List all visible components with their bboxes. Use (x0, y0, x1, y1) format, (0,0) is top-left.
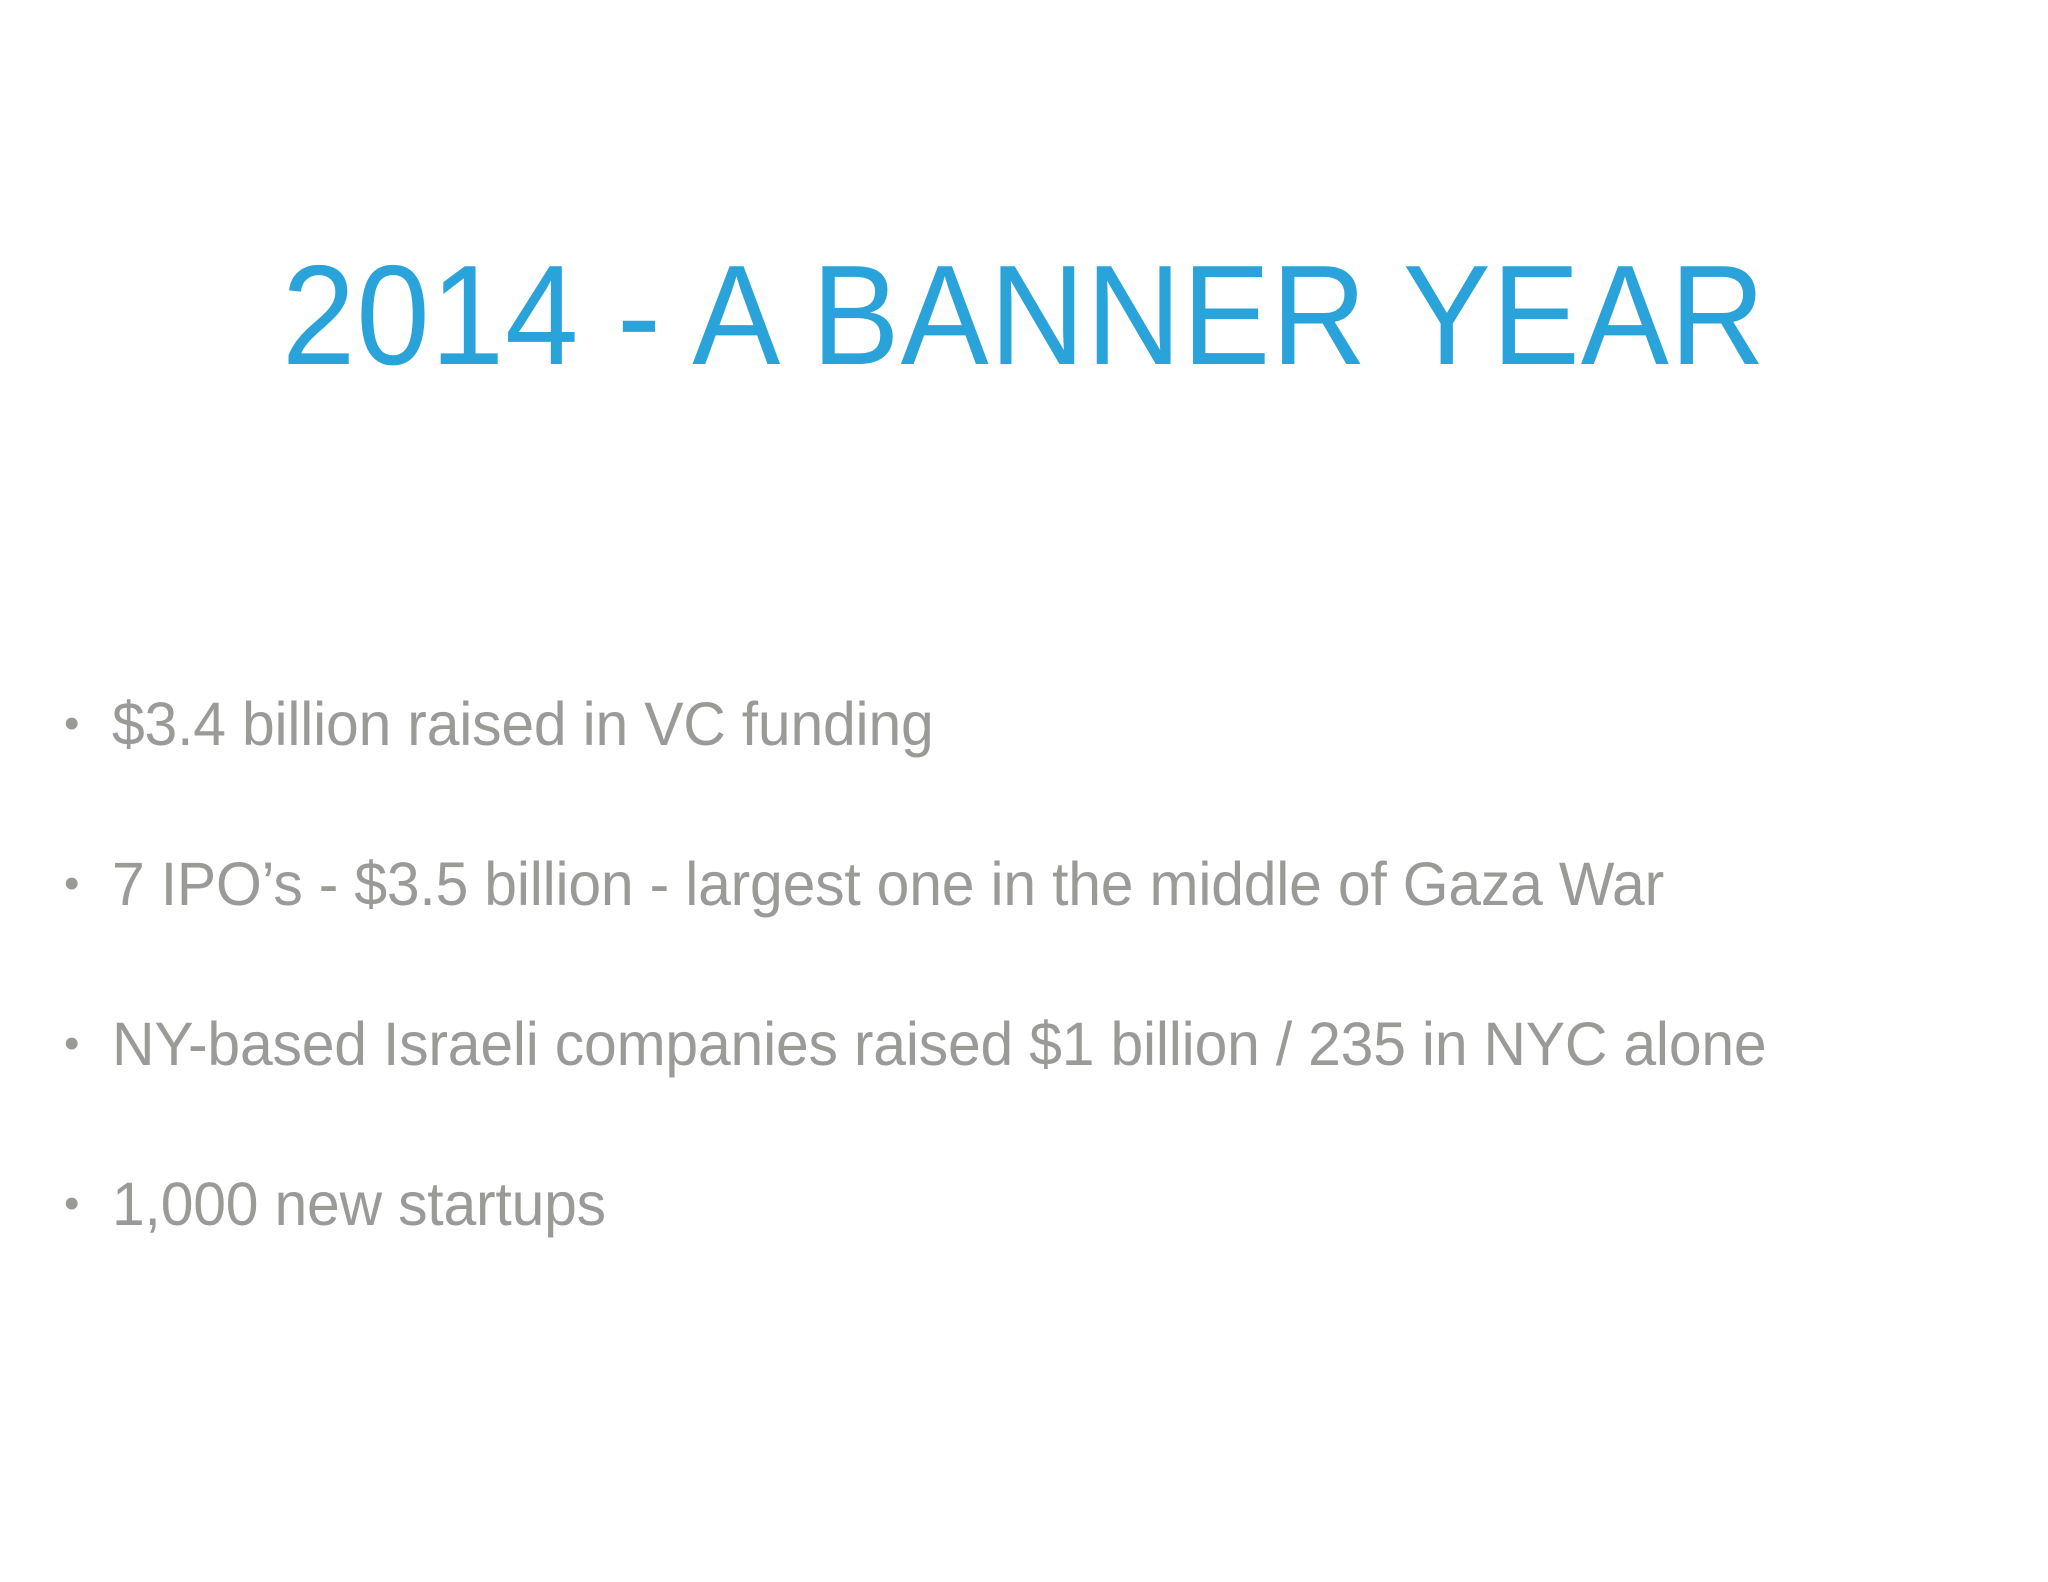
list-item: • 7 IPO’s - $3.5 billion - largest one i… (58, 852, 2008, 1012)
list-item-label: $3.4 billion raised in VC funding (112, 692, 1942, 756)
list-item: • 1,000 new startups (58, 1172, 2008, 1332)
list-item: • $3.4 billion raised in VC funding (58, 692, 2008, 852)
bullet-point-icon: • (58, 852, 112, 916)
list-item: • NY-based Israeli companies raised $1 b… (58, 1012, 2008, 1172)
bullet-point-icon: • (58, 1172, 112, 1236)
presentation-slide: 2014 - A BANNER YEAR • $3.4 billion rais… (0, 0, 2048, 1582)
list-item-label: 7 IPO’s - $3.5 billion - largest one in … (112, 852, 1942, 916)
bullet-list: • $3.4 billion raised in VC funding • 7 … (58, 692, 2008, 1332)
page-title: 2014 - A BANNER YEAR (72, 245, 1977, 387)
list-item-label: 1,000 new startups (112, 1172, 1942, 1236)
bullet-point-icon: • (58, 1012, 112, 1076)
list-item-label: NY-based Israeli companies raised $1 bil… (112, 1012, 1942, 1076)
bullet-point-icon: • (58, 692, 112, 756)
